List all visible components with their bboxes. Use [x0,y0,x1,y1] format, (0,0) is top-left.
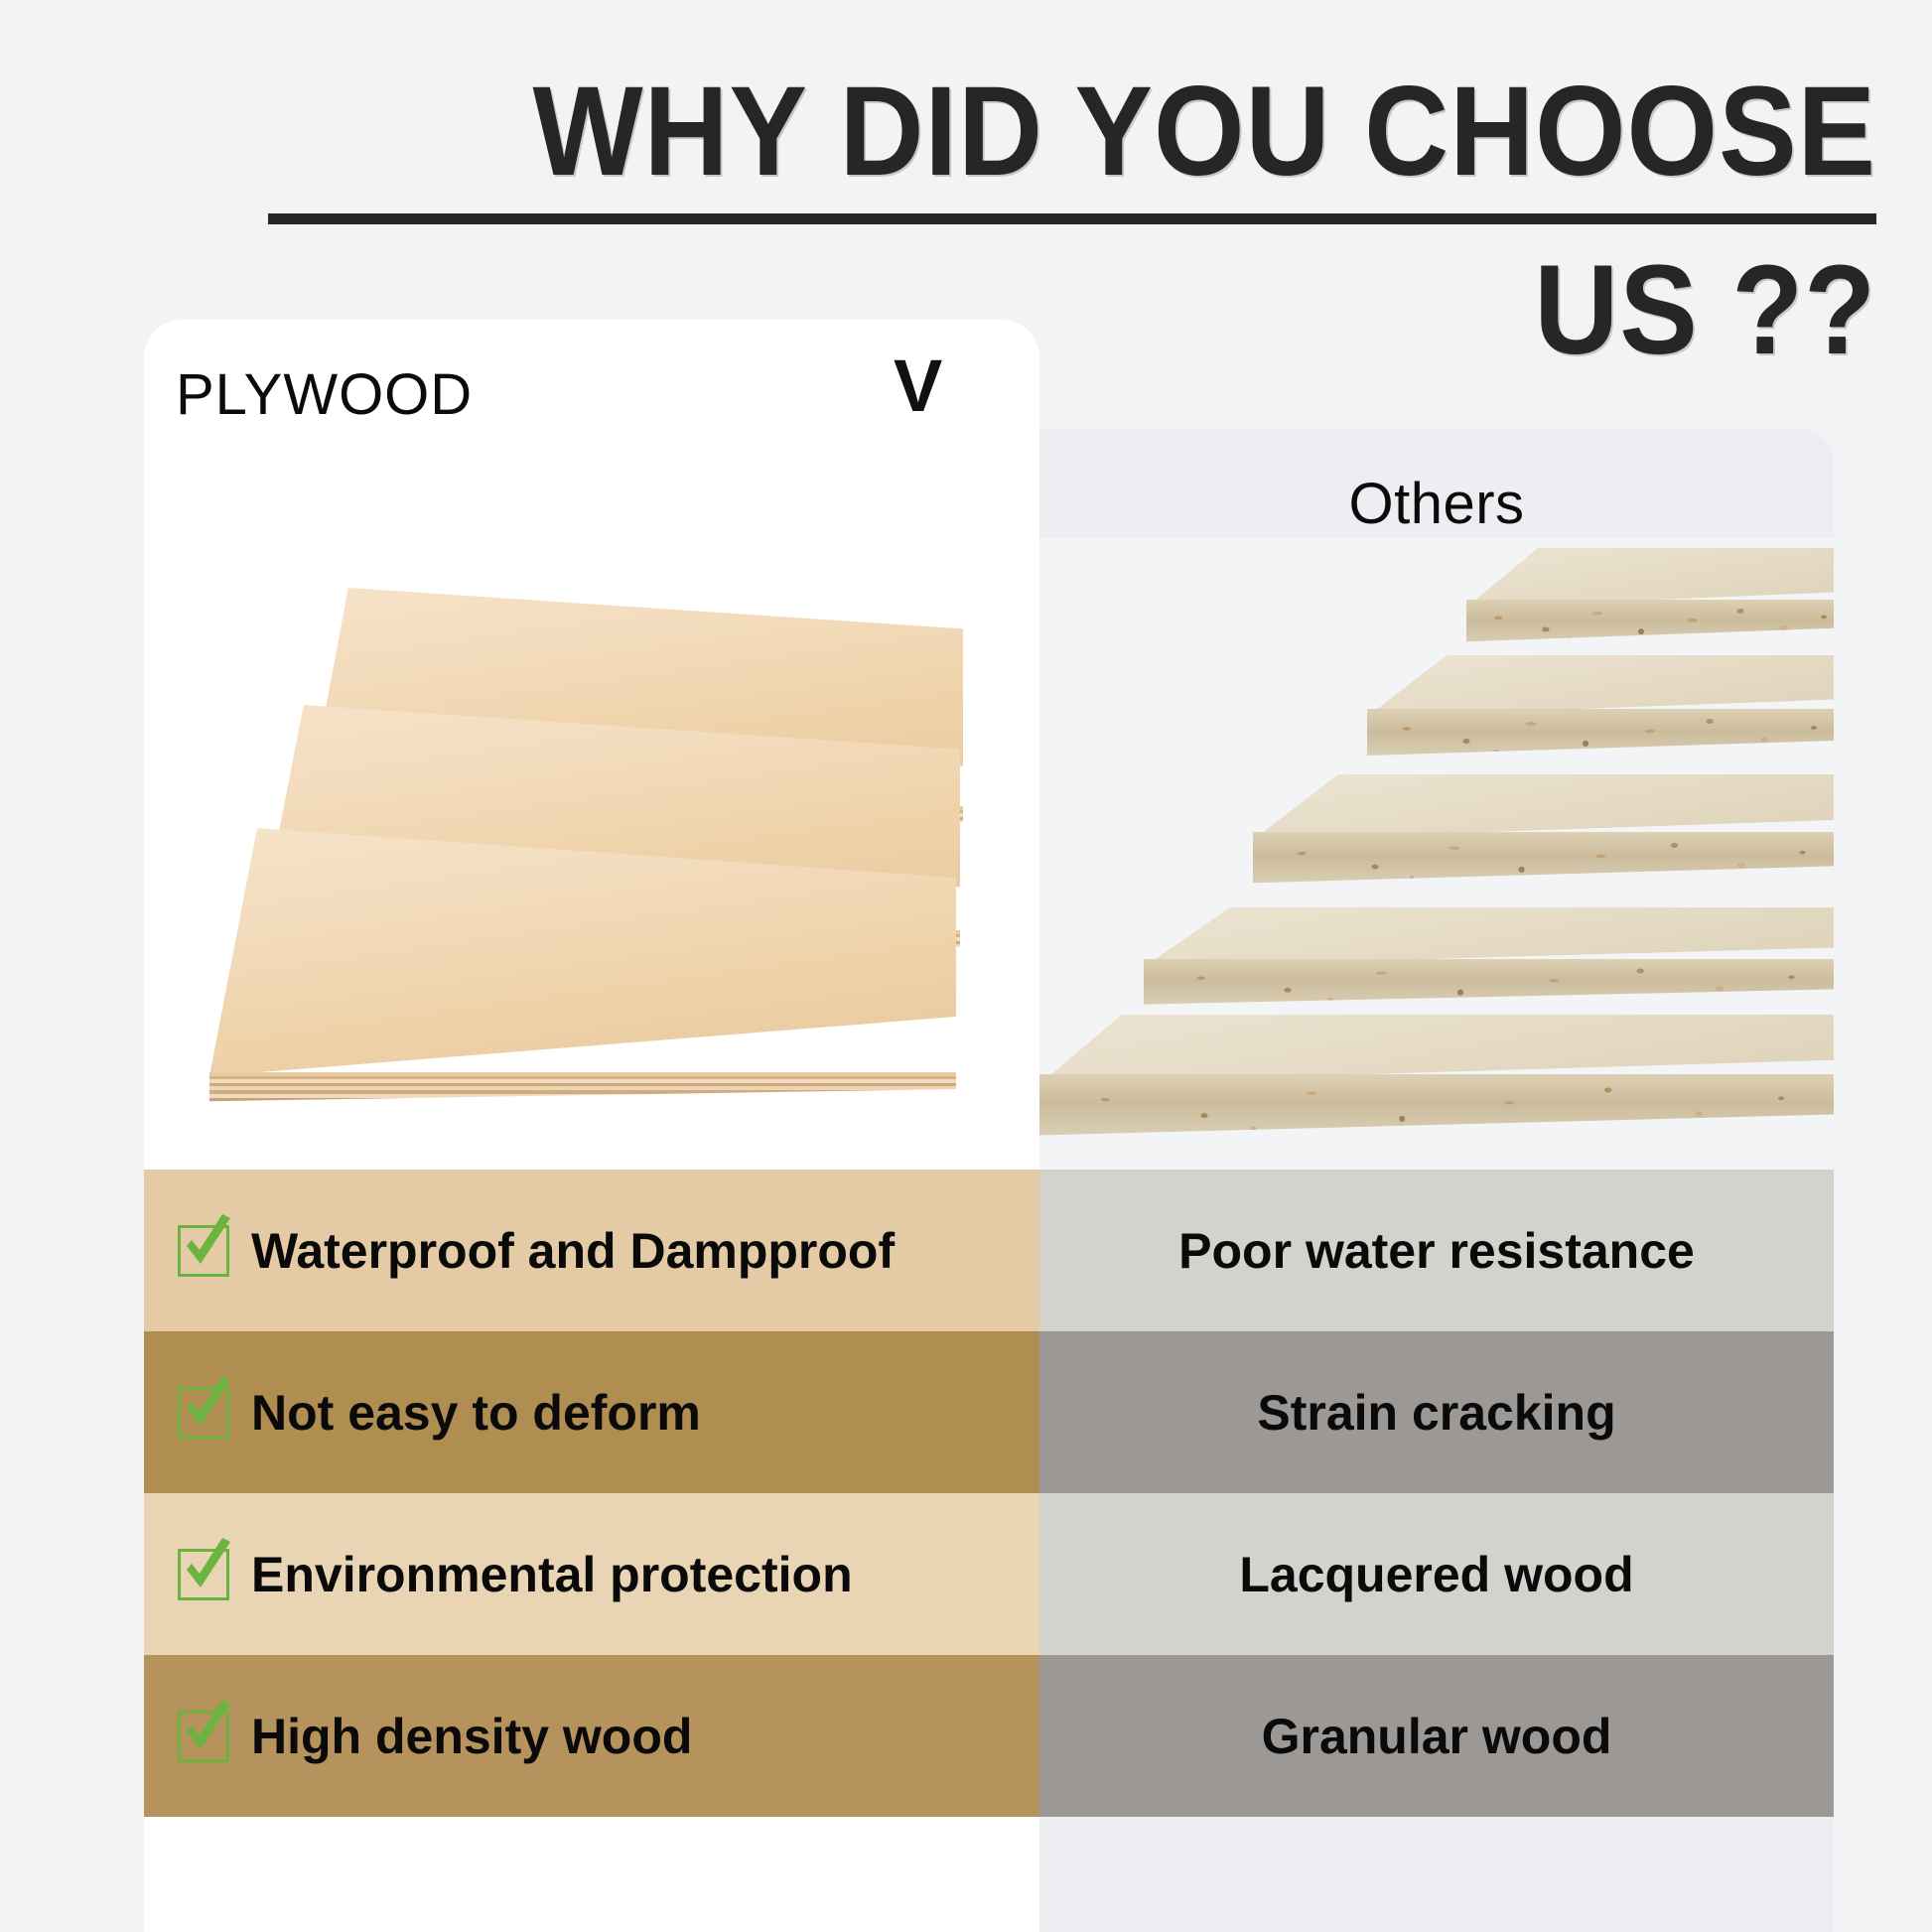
row-label: Lacquered wood [1239,1546,1633,1603]
plywood-panel-title: PLYWOOD [176,361,473,428]
row-label: Strain cracking [1257,1384,1615,1442]
table-row: Granular wood [1039,1655,1834,1817]
row-label: Environmental protection [251,1546,853,1603]
heading-line-1: WHY DID YOU CHOOSE [397,68,1876,198]
table-row: Not easy to deform [144,1331,1039,1493]
row-label: Waterproof and Dampproof [251,1222,895,1280]
row-label: High density wood [251,1708,692,1765]
table-row: Poor water resistance [1039,1170,1834,1331]
table-row: Strain cracking [1039,1331,1834,1493]
infographic-root: WHY DID YOU CHOOSE US ?? Others [0,0,1932,1932]
check-icon [178,1225,229,1277]
particleboard-image [1039,538,1834,1233]
heading-underline [268,213,1876,224]
table-row: High density wood [144,1655,1039,1817]
row-label: Poor water resistance [1178,1222,1695,1280]
plywood-feature-rows: Waterproof and Dampproof Not easy to def… [144,1170,1039,1817]
check-icon [178,1387,229,1439]
table-row: Waterproof and Dampproof [144,1170,1039,1331]
plywood-image [144,439,1039,1253]
others-panel-title: Others [1039,471,1834,537]
check-icon [178,1549,229,1600]
row-label: Not easy to deform [251,1384,701,1442]
check-icon [178,1711,229,1762]
chevron-v-icon: V [894,349,942,423]
table-row: Environmental protection [144,1493,1039,1655]
others-feature-rows: Poor water resistance Strain cracking La… [1039,1170,1834,1817]
row-label: Granular wood [1262,1708,1612,1765]
table-row: Lacquered wood [1039,1493,1834,1655]
